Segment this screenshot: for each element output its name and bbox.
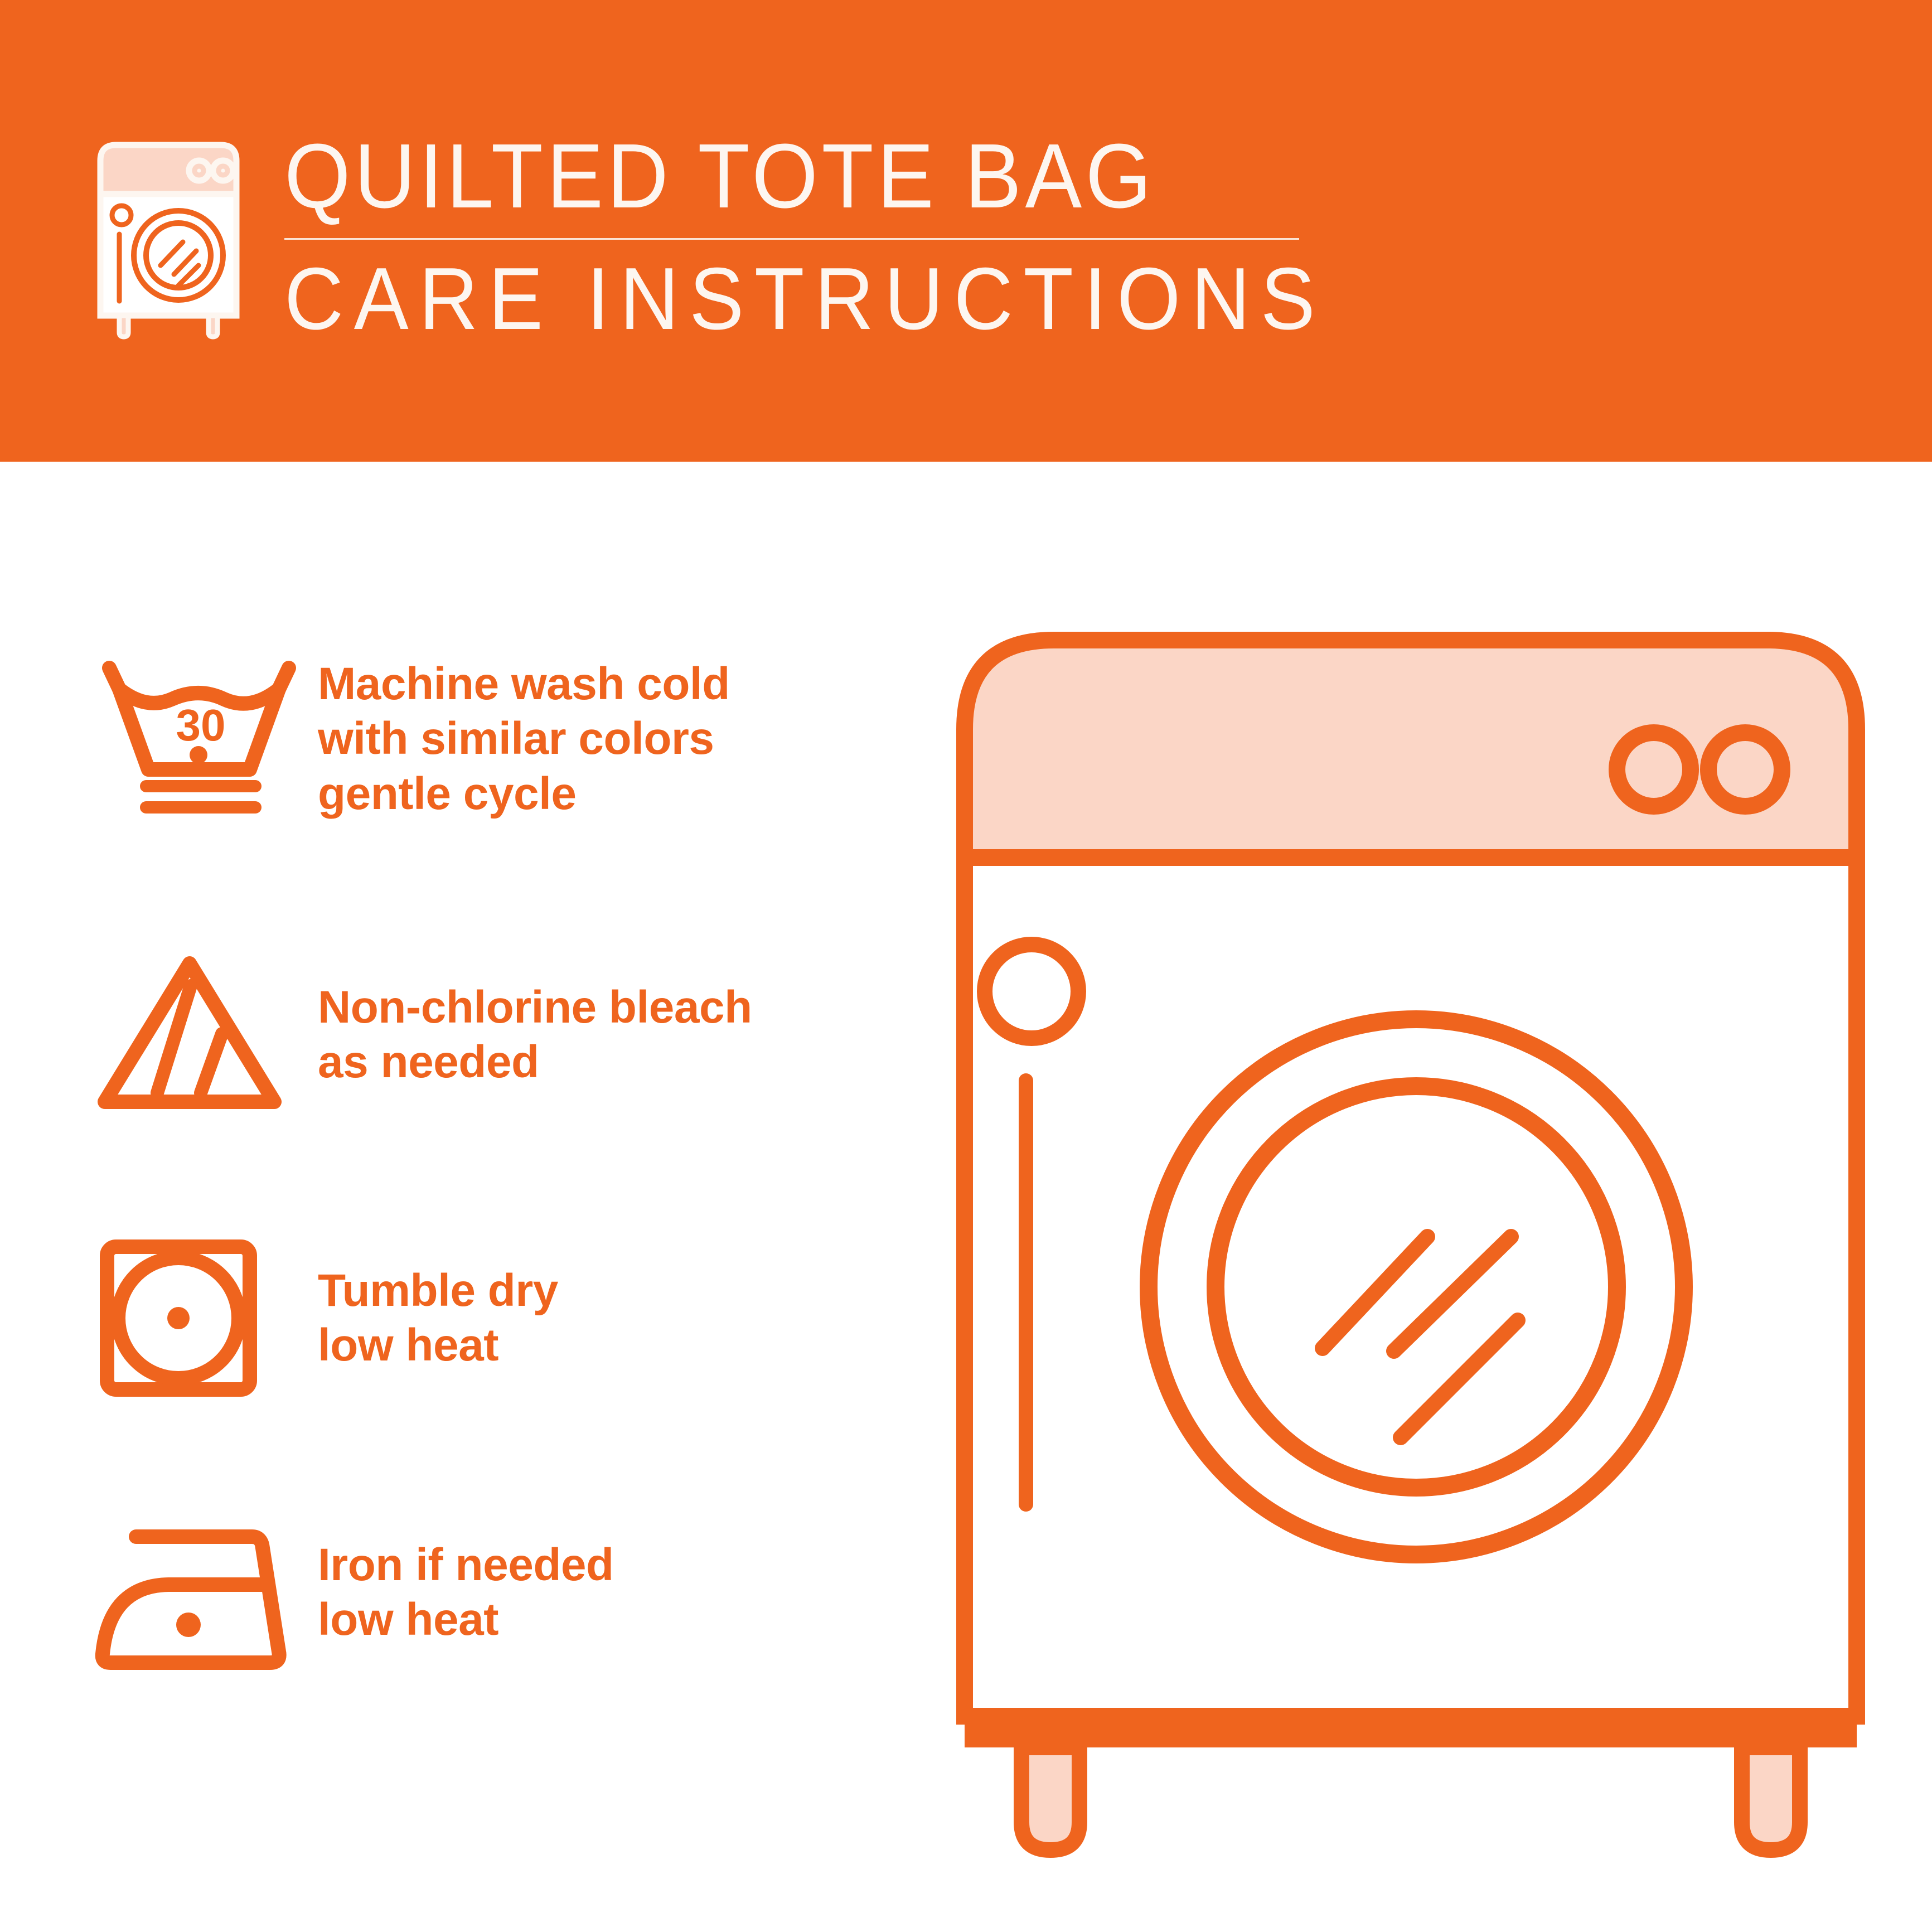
care-instructions-page: QUILTED TOTE BAG CARE INSTRUCTIONS 30: [0, 0, 1932, 1932]
care-label-bleach: Non-chlorine bleach as needed: [318, 936, 937, 1090]
care-instruction-list: 30 Machine wash cold with similar colors…: [89, 651, 937, 1789]
care-label-wash: Machine wash cold with similar colors ge…: [318, 651, 937, 821]
care-label-tumble-dry: Tumble dry low heat: [318, 1220, 937, 1373]
header-divider: [284, 238, 1299, 240]
care-label-line: Iron if needed: [318, 1538, 937, 1592]
leg-left: [1021, 1747, 1079, 1850]
page-subtitle: CARE INSTRUCTIONS: [284, 254, 1325, 344]
care-label-line: Non-chlorine bleach: [318, 980, 937, 1035]
care-label-line: as needed: [318, 1035, 937, 1090]
care-label-line: Tumble dry: [318, 1263, 937, 1318]
main-content: 30 Machine wash cold with similar colors…: [0, 462, 1932, 1932]
care-label-line: with similar colors: [318, 711, 937, 766]
care-row-iron: Iron if needed low heat: [89, 1504, 937, 1789]
wash-temperature-value: 30: [176, 700, 226, 750]
page-title: QUILTED TOTE BAG: [284, 129, 1325, 222]
care-row-wash: 30 Machine wash cold with similar colors…: [89, 651, 937, 936]
care-label-line: low heat: [318, 1318, 937, 1373]
care-label-line: Machine wash cold: [318, 657, 937, 711]
wash-tub-30-gentle-icon: 30: [89, 651, 318, 819]
washing-machine-illustration: [948, 601, 1873, 1883]
washing-machine-icon: [85, 136, 252, 337]
tumble-dry-low-heat-icon: [89, 1220, 318, 1402]
header-banner: QUILTED TOTE BAG CARE INSTRUCTIONS: [0, 0, 1932, 462]
header-content: QUILTED TOTE BAG CARE INSTRUCTIONS: [85, 129, 1345, 364]
header-text-block: QUILTED TOTE BAG CARE INSTRUCTIONS: [284, 129, 1404, 344]
washer-base: [965, 1716, 1857, 1747]
care-label-iron: Iron if needed low heat: [318, 1504, 937, 1648]
care-row-tumble-dry: Tumble dry low heat: [89, 1220, 937, 1504]
care-row-bleach: Non-chlorine bleach as needed: [89, 936, 937, 1220]
leg-right: [1742, 1747, 1800, 1850]
care-label-line: gentle cycle: [318, 767, 937, 821]
bleach-triangle-non-chlorine-icon: [89, 936, 318, 1117]
care-label-line: low heat: [318, 1592, 937, 1647]
washer-body: [965, 858, 1857, 1716]
iron-low-heat-icon: [89, 1504, 318, 1675]
